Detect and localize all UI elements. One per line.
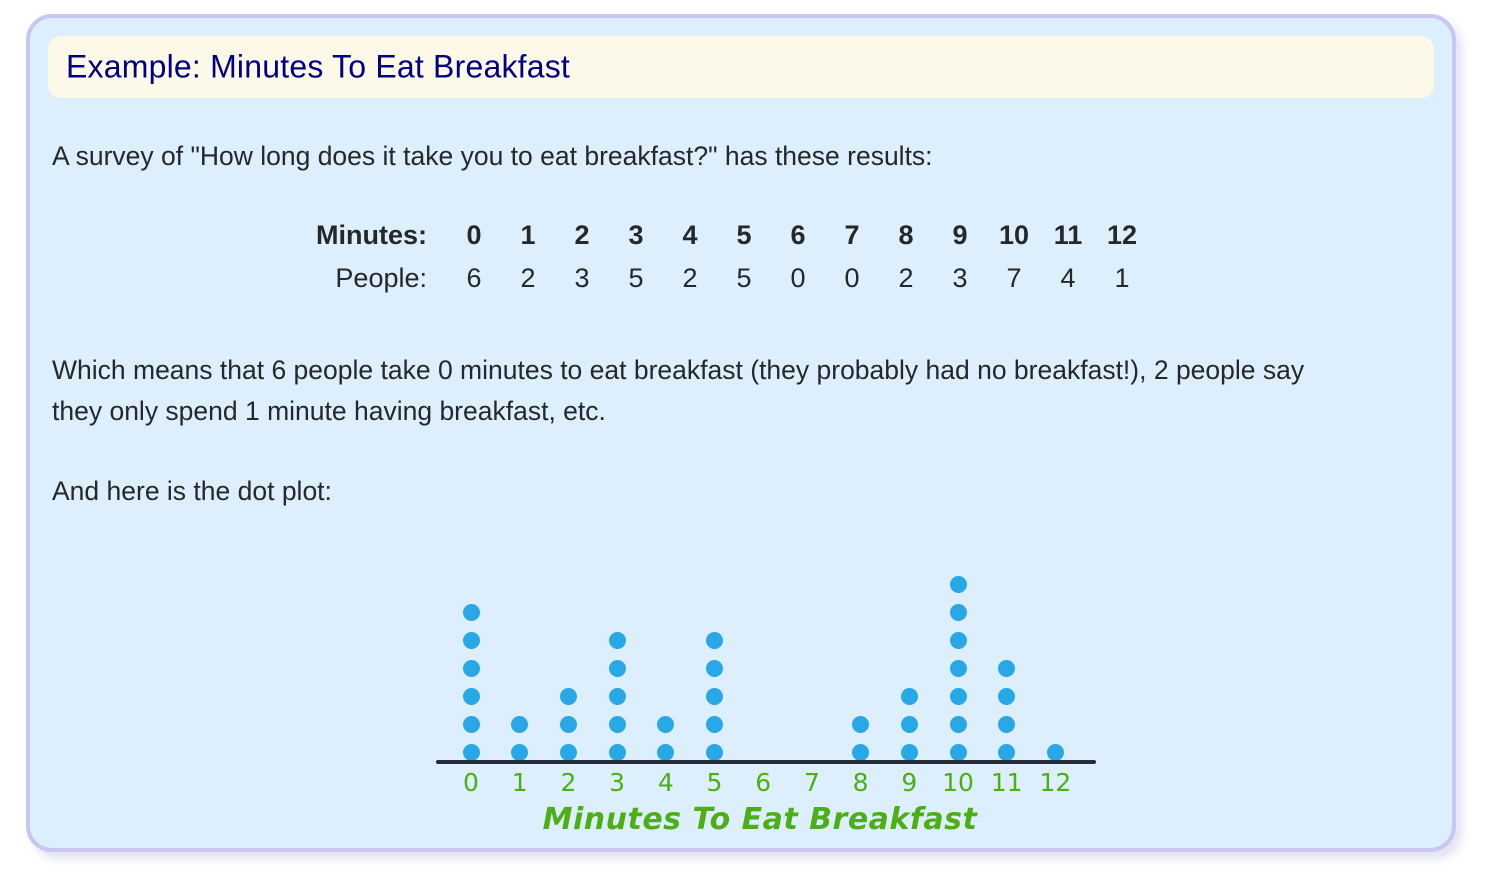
people-cell: 2	[879, 257, 933, 300]
minutes-cell: 6	[771, 214, 825, 257]
dot-plot-columns	[410, 566, 1110, 761]
minutes-cell: 4	[663, 214, 717, 257]
row-label-minutes: Minutes:	[316, 214, 447, 257]
dot-column	[651, 705, 681, 761]
minutes-cell: 9	[933, 214, 987, 257]
dot-plot-axis-label: Minutes To Eat Breakfast	[410, 802, 1110, 837]
minutes-cell: 8	[879, 214, 933, 257]
data-dot	[950, 660, 967, 677]
data-dot	[609, 632, 626, 649]
lead-in-paragraph: And here is the dot plot:	[48, 471, 1342, 511]
data-dot	[609, 716, 626, 733]
minutes-cell: 7	[825, 214, 879, 257]
dot-column	[456, 593, 486, 761]
data-dot	[609, 744, 626, 761]
people-cell: 2	[663, 257, 717, 300]
minutes-cell: 10	[987, 214, 1041, 257]
data-dot	[463, 716, 480, 733]
data-dot	[852, 744, 869, 761]
data-dot	[511, 744, 528, 761]
data-dot	[950, 604, 967, 621]
dot-column	[846, 705, 876, 761]
minutes-cell: 3	[609, 214, 663, 257]
dot-plot-axis-line	[436, 760, 1096, 764]
data-dot	[463, 660, 480, 677]
data-dot	[463, 688, 480, 705]
data-dot	[852, 716, 869, 733]
data-dot	[560, 716, 577, 733]
data-dot	[998, 660, 1015, 677]
data-dot	[901, 716, 918, 733]
card-title-banner: Example: Minutes To Eat Breakfast	[48, 36, 1434, 98]
dot-column	[943, 565, 973, 761]
axis-tick-label: 4	[646, 768, 686, 797]
dot-column	[1040, 733, 1070, 761]
data-dot	[463, 744, 480, 761]
survey-data-table: Minutes: 0 1 2 3 4 5 6 7 8 9 10 11 12	[316, 214, 1149, 300]
axis-tick-label: 5	[695, 768, 735, 797]
data-dot	[1047, 744, 1064, 761]
data-dot	[609, 688, 626, 705]
people-cell: 4	[1041, 257, 1095, 300]
people-cell: 5	[717, 257, 771, 300]
people-cell: 1	[1095, 257, 1149, 300]
data-dot	[706, 744, 723, 761]
minutes-cell: 5	[717, 214, 771, 257]
data-dot	[463, 632, 480, 649]
explanation-paragraph: Which means that 6 people take 0 minutes…	[48, 350, 1342, 431]
people-cell: 0	[825, 257, 879, 300]
data-dot	[998, 688, 1015, 705]
people-cell: 2	[501, 257, 555, 300]
people-cell: 0	[771, 257, 825, 300]
people-cell: 6	[447, 257, 501, 300]
dot-column	[602, 621, 632, 761]
data-dot	[950, 688, 967, 705]
page-title: Example: Minutes To Eat Breakfast	[66, 49, 570, 86]
people-cell: 5	[609, 257, 663, 300]
minutes-cell: 12	[1095, 214, 1149, 257]
table-row-people: People: 6 2 3 5 2 5 0 0 2 3 7 4 1	[316, 257, 1149, 300]
dot-column	[992, 649, 1022, 761]
data-dot	[950, 716, 967, 733]
row-label-people: People:	[316, 257, 447, 300]
dot-column	[894, 677, 924, 761]
data-dot	[463, 604, 480, 621]
dot-column	[700, 621, 730, 761]
example-card: Example: Minutes To Eat Breakfast A surv…	[26, 14, 1456, 852]
axis-tick-label: 6	[743, 768, 783, 797]
data-dot	[560, 744, 577, 761]
dot-plot: 0123456789101112 Minutes To Eat Breakfas…	[410, 566, 1110, 846]
minutes-cell: 0	[447, 214, 501, 257]
dot-column	[553, 677, 583, 761]
people-cell: 7	[987, 257, 1041, 300]
minutes-cell: 11	[1041, 214, 1095, 257]
axis-tick-label: 10	[938, 768, 978, 797]
axis-tick-label: 0	[451, 768, 491, 797]
data-dot	[950, 632, 967, 649]
axis-tick-label: 11	[987, 768, 1027, 797]
axis-tick-label: 8	[841, 768, 881, 797]
data-dot	[706, 632, 723, 649]
data-dot	[998, 716, 1015, 733]
axis-tick-label: 1	[500, 768, 540, 797]
minutes-cell: 2	[555, 214, 609, 257]
screenshot-stage: Example: Minutes To Eat Breakfast A surv…	[0, 0, 1492, 894]
data-dot	[609, 660, 626, 677]
axis-tick-label: 12	[1035, 768, 1075, 797]
data-dot	[706, 716, 723, 733]
axis-tick-label: 7	[792, 768, 832, 797]
intro-paragraph: A survey of "How long does it take you t…	[48, 136, 1342, 176]
card-body: A survey of "How long does it take you t…	[48, 114, 1438, 511]
axis-tick-label: 3	[597, 768, 637, 797]
people-cell: 3	[933, 257, 987, 300]
table-row-minutes: Minutes: 0 1 2 3 4 5 6 7 8 9 10 11 12	[316, 214, 1149, 257]
data-dot	[901, 688, 918, 705]
people-cell: 3	[555, 257, 609, 300]
data-dot	[950, 744, 967, 761]
axis-tick-label: 2	[548, 768, 588, 797]
dot-plot-tick-labels: 0123456789101112	[410, 768, 1110, 802]
data-dot	[657, 716, 674, 733]
data-dot	[950, 576, 967, 593]
data-dot	[901, 744, 918, 761]
data-dot	[560, 688, 577, 705]
minutes-cell: 1	[501, 214, 555, 257]
data-dot	[998, 744, 1015, 761]
axis-tick-label: 9	[889, 768, 929, 797]
dot-column	[505, 705, 535, 761]
data-dot	[511, 716, 528, 733]
data-dot	[706, 688, 723, 705]
data-dot	[706, 660, 723, 677]
data-dot	[657, 744, 674, 761]
